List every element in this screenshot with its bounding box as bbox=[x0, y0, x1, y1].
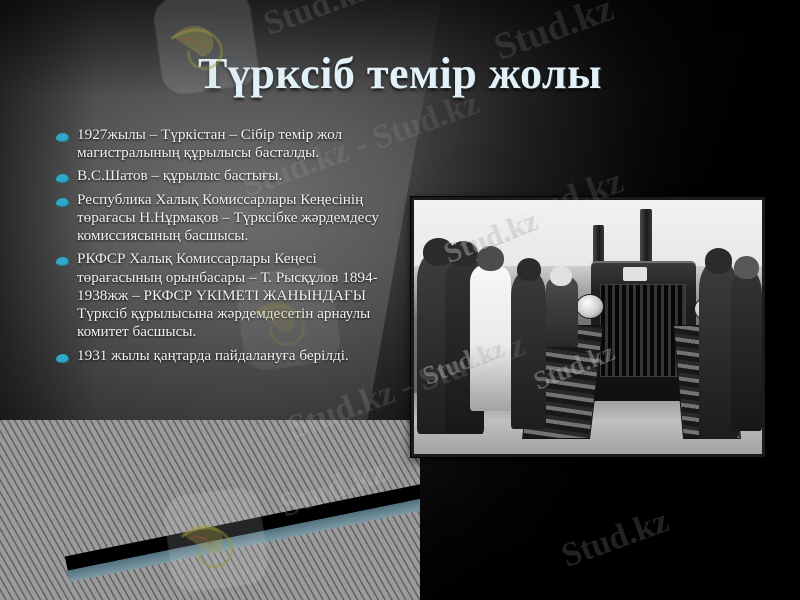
photo-person-head bbox=[734, 256, 758, 279]
list-item-text: 1927жылы – Түркістан – Сібір темір жол м… bbox=[77, 126, 386, 162]
list-item: 1931 жылы қаңтарда пайдалануға берілді. bbox=[56, 347, 386, 365]
photo-person-white-coat bbox=[470, 264, 512, 411]
list-item-text: Республика Халық Комиссарлары Кеңесінің … bbox=[77, 191, 386, 246]
presentation-slide: Түрксіб темір жолы 1927жылы – Түркістан … bbox=[0, 0, 800, 600]
slide-title: Түрксіб темір жолы bbox=[0, 48, 800, 99]
list-item: 1927жылы – Түркістан – Сібір темір жол м… bbox=[56, 126, 386, 162]
photo-tractor-badge bbox=[623, 267, 647, 281]
bullet-marker-icon bbox=[56, 257, 69, 266]
list-item-text: РКФСР Халық Комиссарлары Кеңесі төрағасы… bbox=[77, 250, 386, 341]
list-item: Республика Халық Комиссарлары Кеңесінің … bbox=[56, 191, 386, 246]
photo-person-head bbox=[517, 258, 541, 281]
photo-person-head bbox=[449, 241, 479, 266]
bullet-list: 1927жылы – Түркістан – Сібір темір жол м… bbox=[56, 126, 386, 370]
photo-person bbox=[731, 269, 762, 432]
bullet-marker-icon bbox=[56, 354, 69, 363]
photo-person-head bbox=[477, 246, 505, 271]
bullet-marker-icon bbox=[56, 174, 69, 183]
list-item: В.С.Шатов – құрылыс бастығы. bbox=[56, 167, 386, 185]
list-item-text: 1931 жылы қаңтарда пайдалануға берілді. bbox=[77, 347, 349, 365]
bullet-marker-icon bbox=[56, 198, 69, 207]
list-item-text: В.С.Шатов – құрылыс бастығы. bbox=[77, 167, 282, 185]
photo-content: Stud.kz Stud.kz Stud.kz bbox=[414, 200, 762, 454]
corner-decoration bbox=[0, 420, 420, 600]
photo-person-head bbox=[550, 266, 573, 286]
list-item: РКФСР Халық Комиссарлары Кеңесі төрағасы… bbox=[56, 250, 386, 341]
bullet-marker-icon bbox=[56, 133, 69, 142]
slide-photo: Stud.kz Stud.kz Stud.kz bbox=[411, 197, 765, 457]
photo-person-head bbox=[705, 248, 733, 273]
photo-person bbox=[511, 271, 546, 428]
photo-person bbox=[546, 276, 577, 347]
photo-headlight bbox=[576, 294, 604, 319]
